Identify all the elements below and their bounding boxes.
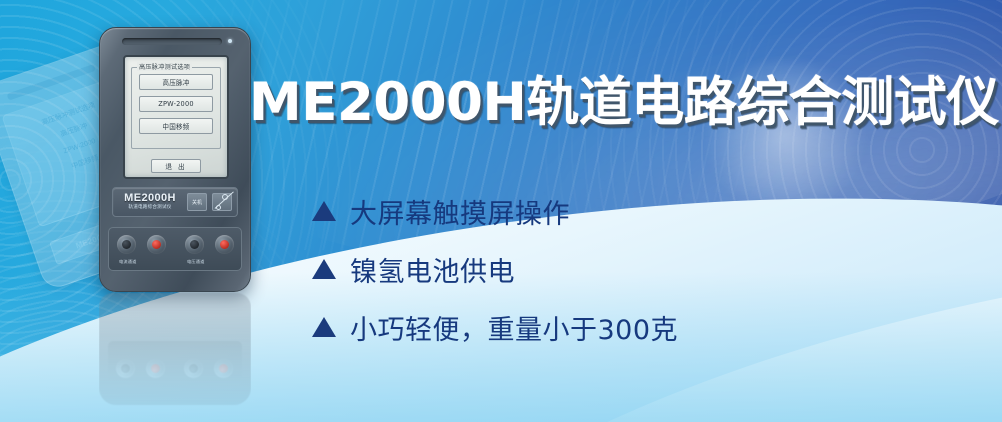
jack-current-negative[interactable] [117,235,136,254]
device-jack-panel: 电流通道 电压通道 [108,227,242,271]
feature-text-2: 小巧轻便，重量小于300克 [350,308,678,347]
device-speaker-grille [122,38,222,45]
jack-voltage-positive[interactable] [215,235,234,254]
feature-item-1: 镍氢电池供电 [312,240,678,298]
device-reflection-body [99,293,251,405]
lcd-button-china-frequency-shift[interactable]: 中国移频 [139,118,213,134]
feature-list: 大屏幕触摸屏操作 镍氢电池供电 小巧轻便，重量小于300克 [312,182,678,356]
lcd-button-high-voltage-pulse[interactable]: 高压脉冲 [139,74,213,90]
device-model-text-group: ME2000H 轨道电路综合测试仪 [118,193,182,211]
device-lcd-screen: 高压脉冲测试选项 高压脉冲 ZPW-2000 中国移频 退 出 [123,55,229,179]
lcd-button-zpw-2000[interactable]: ZPW-2000 [139,96,213,112]
device-settings-key[interactable] [212,193,232,211]
feature-item-0: 大屏幕触摸屏操作 [312,182,678,240]
triangle-bullet-icon [312,317,336,337]
product-device-image: 高压脉冲测试选项 高压脉冲 ZPW-2000 中国移频 退 出 ME2000H … [99,27,251,292]
jack-voltage-negative[interactable] [185,235,204,254]
page-title: ME2000H轨道电路综合测试仪 [249,76,949,129]
device-reflection-jacks [108,341,242,385]
feature-item-2: 小巧轻便，重量小于300克 [312,298,678,356]
lcd-menu-group: 高压脉冲测试选项 高压脉冲 ZPW-2000 中国移频 [131,67,221,149]
device-led-indicator [228,39,232,43]
jack-current-positive[interactable] [147,235,166,254]
device-model-name: ME2000H [118,193,182,204]
settings-slash-icon [213,192,231,212]
triangle-bullet-icon [312,201,336,221]
reflection-jack-3 [184,359,203,378]
reflection-jack-1 [116,359,135,378]
device-reflection [99,293,251,422]
device-power-off-key[interactable]: 关机 [187,193,207,211]
jack-label-current: 电流通道 [119,259,137,265]
reflection-jack-4 [214,359,233,378]
device-model-subtitle: 轨道电路综合测试仪 [118,206,182,211]
feature-text-0: 大屏幕触摸屏操作 [350,192,570,231]
device-model-plate: ME2000H 轨道电路综合测试仪 关机 [112,187,238,217]
product-banner: 高压脉冲测试选项 高压脉冲 ZPW-2000 中国移频 ME2000H 高压脉冲… [0,0,1002,422]
feature-text-1: 镍氢电池供电 [350,250,515,289]
lcd-menu-legend: 高压脉冲测试选项 [137,62,192,71]
triangle-bullet-icon [312,259,336,279]
lcd-exit-button[interactable]: 退 出 [151,159,201,173]
reflection-jack-2 [146,359,165,378]
jack-label-voltage: 电压通道 [187,259,205,265]
